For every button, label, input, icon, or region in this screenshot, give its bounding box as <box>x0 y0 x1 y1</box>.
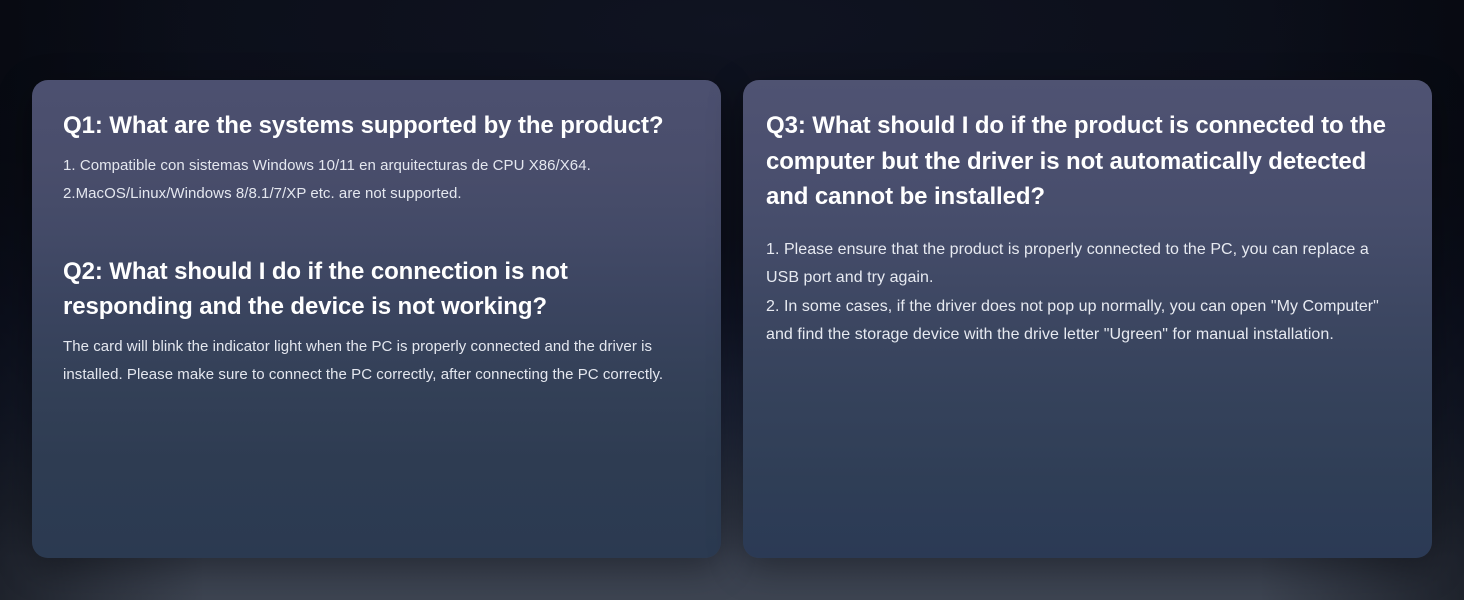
faq-question-q2: Q2: What should I do if the connection i… <box>63 254 691 324</box>
faq-answer-q1-line-2: 2.MacOS/Linux/Windows 8/8.1/7/XP etc. ar… <box>63 180 691 208</box>
faq-item-q3: Q3: What should I do if the product is c… <box>766 108 1402 350</box>
faq-item-q1: Q1: What are the systems supported by th… <box>63 108 691 208</box>
faq-answer-q2-line-1: The card will blink the indicator light … <box>63 333 691 389</box>
faq-card-right-content: Q3: What should I do if the product is c… <box>743 80 1432 558</box>
faq-question-q1: Q1: What are the systems supported by th… <box>63 108 691 143</box>
faq-card-left-content: Q1: What are the systems supported by th… <box>32 80 721 558</box>
faq-card-left: Q1: What are the systems supported by th… <box>32 80 721 558</box>
faq-question-q3: Q3: What should I do if the product is c… <box>766 108 1402 215</box>
faq-answer-q1: 1. Compatible con sistemas Windows 10/11… <box>63 152 691 208</box>
faq-item-q2: Q2: What should I do if the connection i… <box>63 254 691 389</box>
faq-answer-q3-line-1: 1. Please ensure that the product is pro… <box>766 236 1402 293</box>
faq-card-right: Q3: What should I do if the product is c… <box>743 80 1432 558</box>
faq-answer-q2: The card will blink the indicator light … <box>63 333 691 389</box>
faq-section: Q1: What are the systems supported by th… <box>32 80 1432 558</box>
faq-answer-q3-line-2: 2. In some cases, if the driver does not… <box>766 293 1402 350</box>
faq-answer-q3: 1. Please ensure that the product is pro… <box>766 236 1402 350</box>
faq-answer-q1-line-1: 1. Compatible con sistemas Windows 10/11… <box>63 152 691 180</box>
